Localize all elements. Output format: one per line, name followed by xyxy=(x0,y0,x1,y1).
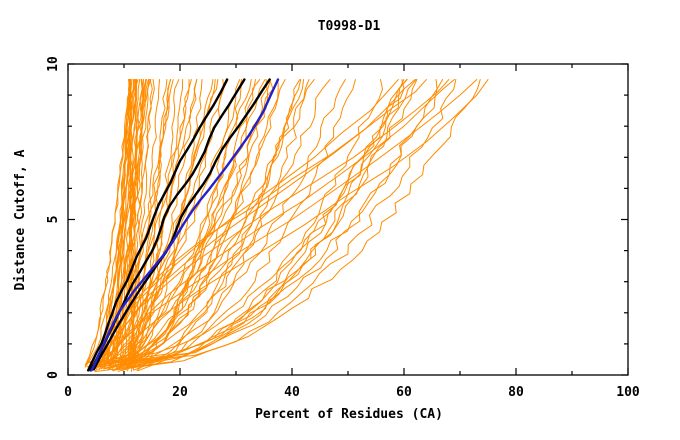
y-tick-label: 10 xyxy=(46,56,61,72)
x-tick-label: 100 xyxy=(616,385,640,400)
y-tick-label: 0 xyxy=(46,371,61,379)
x-tick-label: 80 xyxy=(508,385,524,400)
x-tick-label: 40 xyxy=(284,385,300,400)
plot-svg: T0998-D1 020406080100 0510 Percent of Re… xyxy=(0,0,680,440)
x-tick-label: 0 xyxy=(64,385,72,400)
chart-figure: T0998-D1 020406080100 0510 Percent of Re… xyxy=(0,0,680,440)
y-axis-label: Distance Cutoff, A xyxy=(13,149,28,290)
x-axis-label: Percent of Residues (CA) xyxy=(255,407,443,422)
x-tick-label: 20 xyxy=(172,385,188,400)
chart-title: T0998-D1 xyxy=(318,19,381,34)
x-tick-label: 60 xyxy=(396,385,412,400)
y-tick-label: 5 xyxy=(46,216,61,224)
